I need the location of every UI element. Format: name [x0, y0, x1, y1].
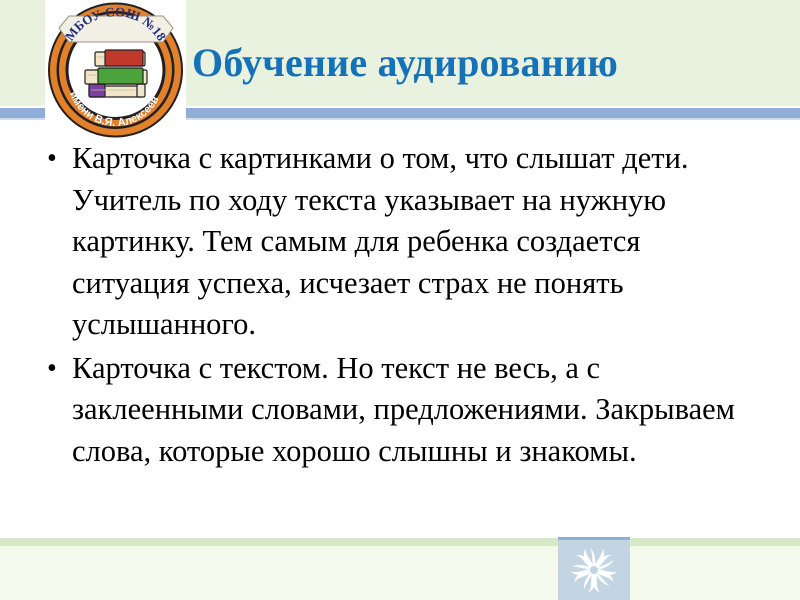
list-item-text: Карточка с текстом. Но текст не весь, а …	[72, 351, 735, 468]
school-emblem-icon: МБОУ СОШ №18 имени В.Я.	[45, 0, 186, 140]
presentation-slide: Обучение аудированию МБОУ СОШ №18	[0, 0, 800, 600]
bullet-marker: •	[47, 138, 57, 180]
list-item: • Карточка с текстом. Но текст не весь, …	[40, 348, 755, 473]
slide-body: • Карточка с картинками о том, что слыша…	[40, 138, 755, 474]
footer-badge	[558, 540, 630, 600]
list-item-text: Карточка с картинками о том, что слышат …	[72, 141, 689, 341]
slide-title: Обучение аудированию	[192, 40, 792, 86]
school-logo: МБОУ СОШ №18 имени В.Я.	[45, 0, 186, 140]
footer-band	[0, 546, 800, 600]
footer-rule	[0, 538, 800, 546]
bullet-marker: •	[47, 348, 57, 390]
flower-burst-icon	[566, 542, 622, 598]
list-item: • Карточка с картинками о том, что слыша…	[40, 138, 755, 346]
